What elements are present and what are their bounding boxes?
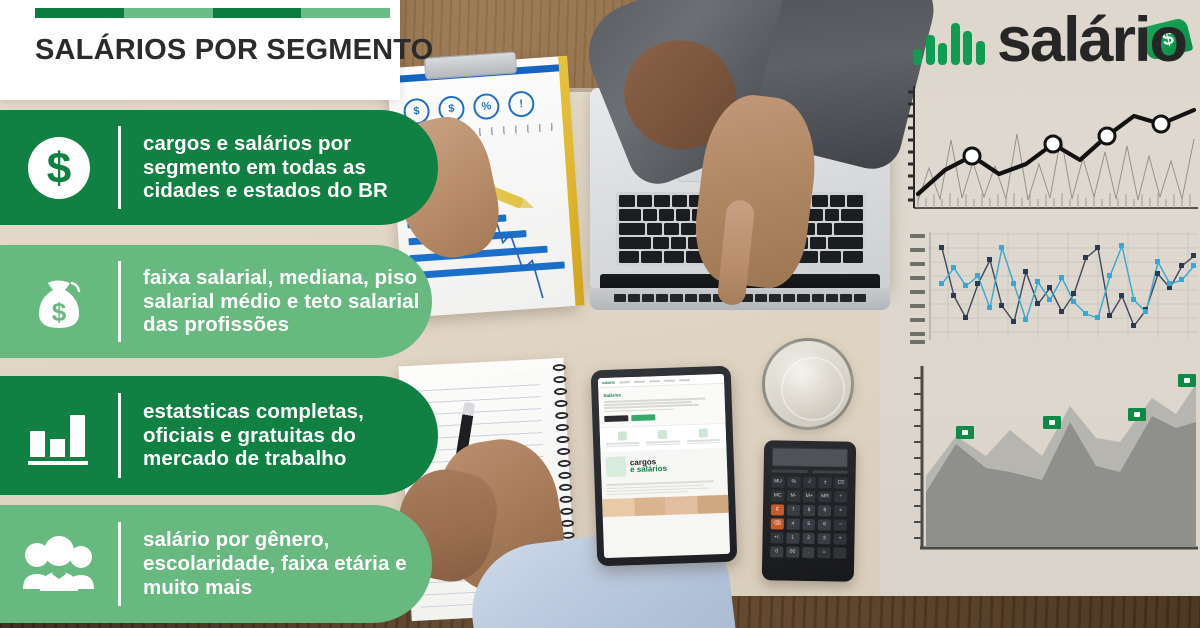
card-icon-2 <box>699 429 708 438</box>
top-right-trend-chart <box>900 82 1200 222</box>
feature-text-1: cargos e salários por segmento em todas … <box>121 132 438 203</box>
calculator-key-2: 2 <box>802 532 815 543</box>
logo-wordmark-text: salário <box>997 5 1186 75</box>
feature-divider-3 <box>118 393 121 479</box>
calculator-key-±: ± <box>819 477 832 488</box>
site-feature-icon <box>606 457 627 478</box>
calculator-key-5: 5 <box>802 518 815 529</box>
calculator-display <box>772 447 848 467</box>
feature-divider-2 <box>118 261 121 342</box>
site-feature-line2: e salários <box>630 464 667 474</box>
site-feature-heading: cargos e salários <box>630 458 667 474</box>
site-button-secondary <box>604 415 628 422</box>
accent-segment-1 <box>124 8 213 18</box>
calculator-key-÷: ÷ <box>834 491 847 502</box>
calculator-subrow <box>772 469 848 473</box>
site-hero: Salários <box>598 384 725 428</box>
calculator-key-4: 4 <box>786 518 799 529</box>
chart1-markers <box>964 116 1169 164</box>
calculator-key-00: 00 <box>786 546 799 557</box>
feature-text-2: faixa salarial, mediana, piso salarial m… <box>121 266 432 337</box>
calculator-key-=: = <box>818 547 831 558</box>
site-photo-strip <box>602 495 729 517</box>
site-card-0 <box>604 431 642 448</box>
feature-item-4[interactable]: salário por gênero, escolaridade, faixa … <box>0 505 432 623</box>
chart2-ytick-labels <box>910 234 925 344</box>
people-group-icon <box>0 533 118 595</box>
site-hero-buttons <box>604 412 720 422</box>
site-button-primary <box>631 414 655 421</box>
calculator-key-6: 6 <box>818 519 831 530</box>
middle-right-dual-series-chart <box>900 226 1200 352</box>
chart2-grid <box>930 232 1198 338</box>
card-icon-1 <box>658 430 667 439</box>
calculator-key-.: . <box>802 546 815 557</box>
calculator-key-MR: MR <box>819 491 832 502</box>
dollar-circle-icon: $ <box>0 135 118 201</box>
money-bag-icon: $ <box>0 269 118 335</box>
title-accent-bar <box>35 8 390 18</box>
calculator-key-+: + <box>834 533 847 544</box>
calculator-key-×: × <box>834 505 847 516</box>
logo-wordmark: salário $ <box>997 14 1186 68</box>
site-card-2 <box>684 428 722 445</box>
calculator-key-7: 7 <box>787 504 800 515</box>
card-icon-0 <box>618 431 627 440</box>
feature-divider-4 <box>118 522 121 607</box>
poster-canvas: $ $ % ! <box>0 0 1200 628</box>
calculator-key-blank <box>833 547 846 558</box>
clipboard-icon-3: ! <box>507 90 535 118</box>
calculator-key-√: √ <box>803 476 816 487</box>
calculator-key-9: 9 <box>818 505 831 516</box>
page-title: SALÁRIOS POR SEGMENTO <box>0 34 433 67</box>
site-feature-block: cargos e salários <box>600 448 727 482</box>
calculator-key-+/-: +/- <box>770 532 783 543</box>
calculator-key-1: 1 <box>786 532 799 543</box>
svg-text:$: $ <box>47 144 71 193</box>
feature-divider-1 <box>118 126 121 209</box>
site-card-1 <box>644 430 682 447</box>
site-logo: salario <box>602 380 615 385</box>
calculator-key-−: − <box>834 519 847 530</box>
calculator-key-MU: MU <box>771 476 784 487</box>
calculator-key-CE: CE <box>835 477 848 488</box>
clipboard-icon-2: % <box>473 93 501 121</box>
accent-segment-3 <box>301 8 390 18</box>
calculator-key-0: 0 <box>770 546 783 557</box>
feature-item-3[interactable]: estatsticas completas, oficiais e gratui… <box>0 376 438 495</box>
bottom-right-area-chart <box>900 360 1200 600</box>
svg-text:$: $ <box>52 297 67 327</box>
feature-text-4: salário por gênero, escolaridade, faixa … <box>121 528 432 599</box>
feature-text-3: estatsticas completas, oficiais e gratui… <box>121 400 438 471</box>
calculator-key-M+: M+ <box>803 490 816 501</box>
salario-logo[interactable]: salário $ <box>913 14 1186 68</box>
calculator-key-%: % <box>787 476 800 487</box>
feature-item-2[interactable]: $ faixa salarial, mediana, piso salarial… <box>0 245 432 358</box>
feature-item-1[interactable]: $ cargos e salários por segmento em toda… <box>0 110 438 225</box>
accent-segment-0 <box>35 8 124 18</box>
calculator-key-M-: M- <box>787 490 800 501</box>
calculator-key-MC: MC <box>771 490 784 501</box>
calculator-key-C: C <box>771 504 784 515</box>
bar-chart-icon <box>0 403 118 469</box>
bar-chart-logo-mark <box>913 17 985 65</box>
tablet-screen: salario Salários <box>598 374 730 558</box>
glass-of-water <box>762 338 854 430</box>
pocket-calculator: MU%√±CEMCM-M+MR÷C789×⌫456−+/-123+000.= <box>762 440 856 582</box>
tablet-showing-salario-website: salario Salários <box>591 366 738 567</box>
calculator-keypad: MU%√±CEMCM-M+MR÷C789×⌫456−+/-123+000.= <box>770 476 847 558</box>
chart1-baseline-ticks <box>918 193 1190 208</box>
calculator-key-8: 8 <box>803 504 816 515</box>
calculator-key-⌫: ⌫ <box>771 518 784 529</box>
calculator-key-3: 3 <box>818 533 831 544</box>
accent-segment-2 <box>213 8 302 18</box>
